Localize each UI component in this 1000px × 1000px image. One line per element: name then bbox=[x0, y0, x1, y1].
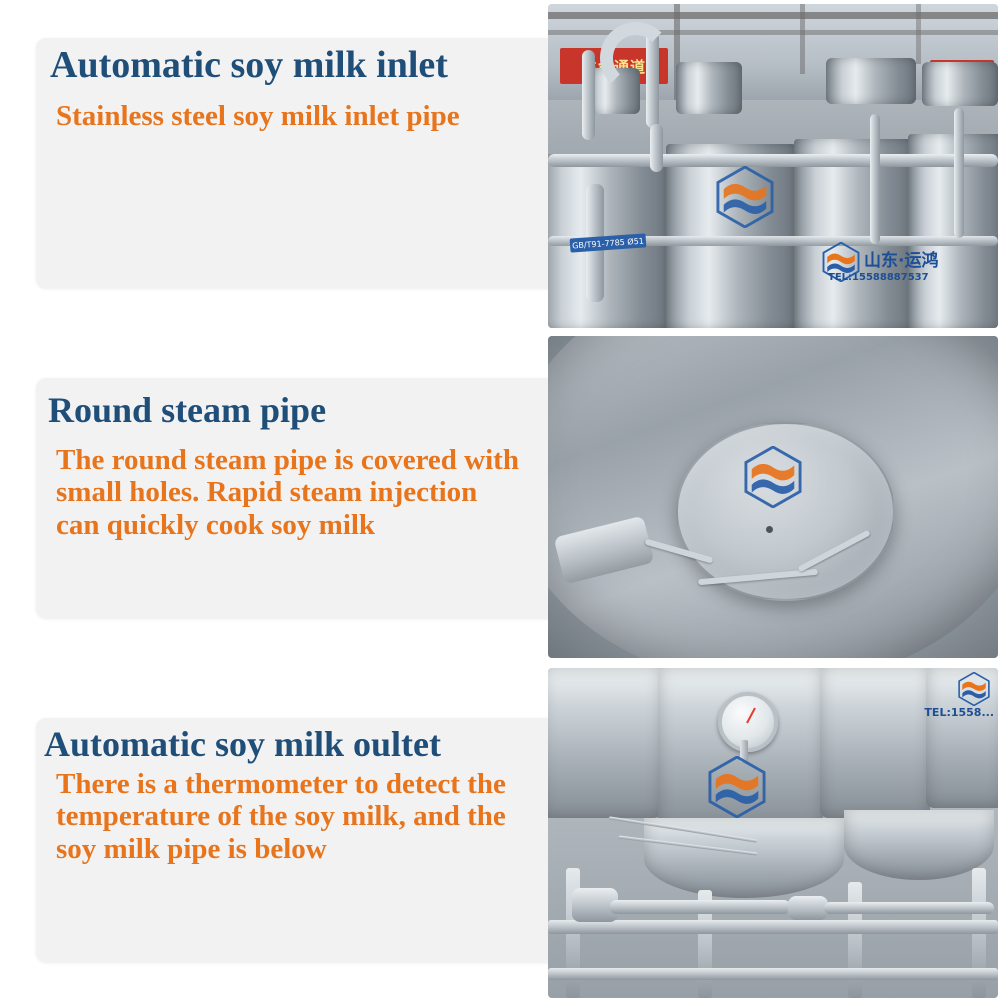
steam-hole bbox=[766, 526, 773, 533]
section-2-description: The round steam pipe is covered with sma… bbox=[56, 444, 526, 541]
hexagon-logo bbox=[958, 672, 990, 706]
frame-rail bbox=[548, 920, 998, 934]
soy-milk-inlet-pipe-photo: 生命通道 GB/T91-7785 Ø51 bbox=[548, 4, 998, 328]
soy-milk-outlet-photo: TEL:1558... bbox=[548, 668, 998, 998]
section-2-title: Round steam pipe bbox=[48, 392, 326, 428]
section-3-title: Automatic soy milk oultet bbox=[44, 726, 441, 762]
tank bbox=[794, 139, 912, 328]
inlet-pipe-elbow bbox=[600, 22, 672, 94]
tank bbox=[548, 668, 662, 818]
inlet-pipe-vertical bbox=[650, 124, 663, 172]
outlet-valve bbox=[788, 896, 828, 920]
brand-phone: TEL:1558... bbox=[924, 706, 994, 719]
roof-column bbox=[916, 4, 921, 64]
frame-rail bbox=[548, 968, 998, 980]
upper-machine bbox=[922, 62, 998, 106]
outlet-pipe bbox=[824, 902, 994, 914]
tank bbox=[820, 668, 930, 818]
hexagon-logo-watermark bbox=[708, 756, 766, 818]
hexagon-logo-watermark bbox=[744, 446, 802, 508]
round-steam-pipe-photo bbox=[548, 336, 998, 658]
roof-beam bbox=[548, 12, 998, 19]
section-1-title: Automatic soy milk inlet bbox=[50, 46, 448, 84]
brand-phone: TEL:15588887537 bbox=[828, 272, 929, 283]
inlet-pipe-vertical bbox=[582, 50, 595, 140]
outlet-pipe bbox=[610, 900, 790, 914]
section-1-description: Stainless steel soy milk inlet pipe bbox=[56, 100, 526, 132]
section-3-description: There is a thermometer to detect the tem… bbox=[56, 768, 536, 865]
brand-block: 山东·运鸿 TEL:15588887537 bbox=[822, 242, 982, 294]
roof-column bbox=[800, 4, 805, 74]
infographic-page: 生命通道 GB/T91-7785 Ø51 bbox=[0, 0, 1000, 1000]
tank-cone bbox=[644, 818, 844, 898]
thermometer-needle bbox=[746, 708, 756, 724]
thermometer-gauge bbox=[718, 692, 778, 752]
hexagon-logo-watermark bbox=[716, 166, 774, 228]
frame-leg bbox=[848, 882, 862, 998]
inlet-pipe-vertical bbox=[870, 114, 880, 244]
upper-machine bbox=[826, 58, 916, 104]
upper-machine bbox=[676, 62, 742, 114]
brand-name: 山东·运鸿 bbox=[864, 246, 938, 271]
inlet-pipe-vertical bbox=[954, 108, 964, 238]
